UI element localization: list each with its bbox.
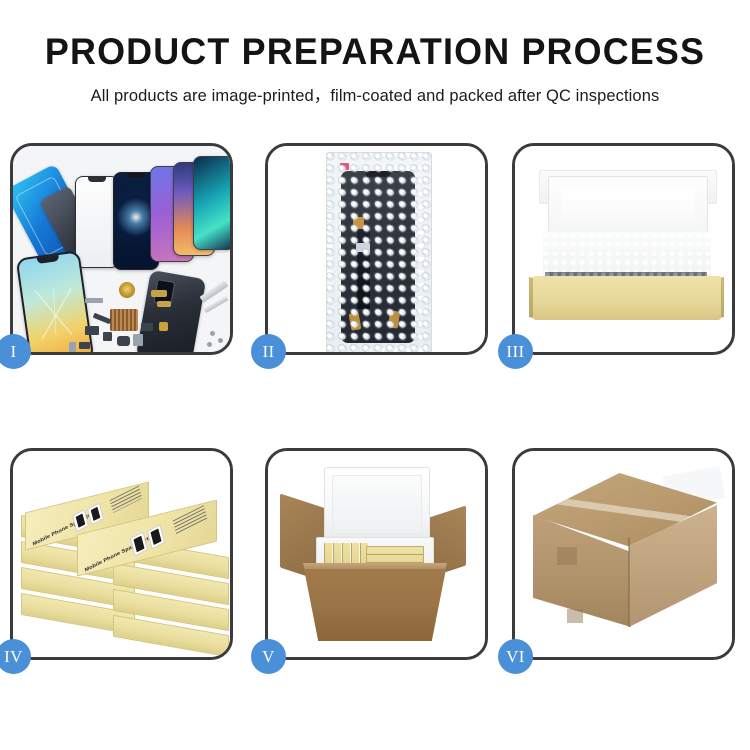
- lid-highlight: [561, 189, 695, 231]
- step-1-image: [13, 146, 230, 352]
- carton-body: [304, 569, 446, 641]
- step-2-image: [268, 146, 485, 352]
- process-step-panel-4[interactable]: Mobile Phone Spare Parts Mobile Phone Sp…: [10, 448, 233, 660]
- carton-tab-lower: [567, 609, 583, 623]
- flex-cable-part-b: [157, 301, 171, 307]
- page-title: PRODUCT PREPARATION PROCESS: [11, 0, 739, 72]
- page-subtitle: All products are image-printed，film-coat…: [0, 72, 750, 106]
- bubble-wrap-bag: [326, 152, 432, 352]
- foam-lid-inner: [332, 475, 422, 534]
- sim-tray-part: [133, 334, 143, 346]
- step-6-image: [515, 451, 732, 657]
- step-badge-2: II: [251, 334, 286, 369]
- process-step-panel-2[interactable]: II: [265, 143, 488, 355]
- foam-box-lid: [324, 467, 430, 543]
- charging-port-part: [141, 323, 153, 331]
- process-step-panel-5[interactable]: V: [265, 448, 488, 660]
- yellow-kraft-tray: [533, 276, 721, 320]
- screw-set-part: [159, 322, 168, 331]
- bubble-texture-layer-2: [327, 153, 431, 352]
- vibrator-part: [103, 332, 112, 341]
- carton-corner-seam: [628, 537, 630, 627]
- retail-box-stack: Mobile Phone Spare Parts Mobile Phone Sp…: [19, 465, 230, 657]
- earpiece-part: [85, 298, 103, 303]
- process-step-panel-1[interactable]: I: [10, 143, 233, 355]
- screw-a: [210, 331, 215, 336]
- speaker-coil-part: [119, 282, 135, 298]
- screw-c: [207, 342, 212, 347]
- screw-b: [218, 338, 223, 343]
- button-part: [69, 342, 76, 352]
- taptic-engine-part: [117, 336, 130, 346]
- flex-cable-part-a: [151, 290, 167, 297]
- step-badge-5: V: [251, 639, 286, 674]
- header: PRODUCT PREPARATION PROCESS All products…: [0, 0, 750, 106]
- battery-connector-part: [79, 342, 90, 349]
- step-4-image: Mobile Phone Spare Parts Mobile Phone Sp…: [13, 451, 230, 657]
- product-preparation-process-page: PRODUCT PREPARATION PROCESS All products…: [0, 0, 750, 750]
- process-step-panel-6[interactable]: VI: [512, 448, 735, 660]
- carton-tab-upper: [557, 547, 577, 565]
- step-badge-3: III: [498, 334, 533, 369]
- logic-board-part: [110, 309, 138, 331]
- step-5-image: [268, 451, 485, 657]
- process-step-panel-3[interactable]: III: [512, 143, 735, 355]
- step-badge-1: I: [0, 334, 31, 369]
- step-badge-4: IV: [0, 639, 31, 674]
- step-3-image: [515, 146, 732, 352]
- teal-phone-icon: [193, 156, 230, 250]
- camera-module-part: [85, 326, 99, 335]
- screen-crack-icon: [33, 285, 78, 339]
- step-badge-6: VI: [498, 639, 533, 674]
- process-step-grid: I II: [10, 143, 740, 663]
